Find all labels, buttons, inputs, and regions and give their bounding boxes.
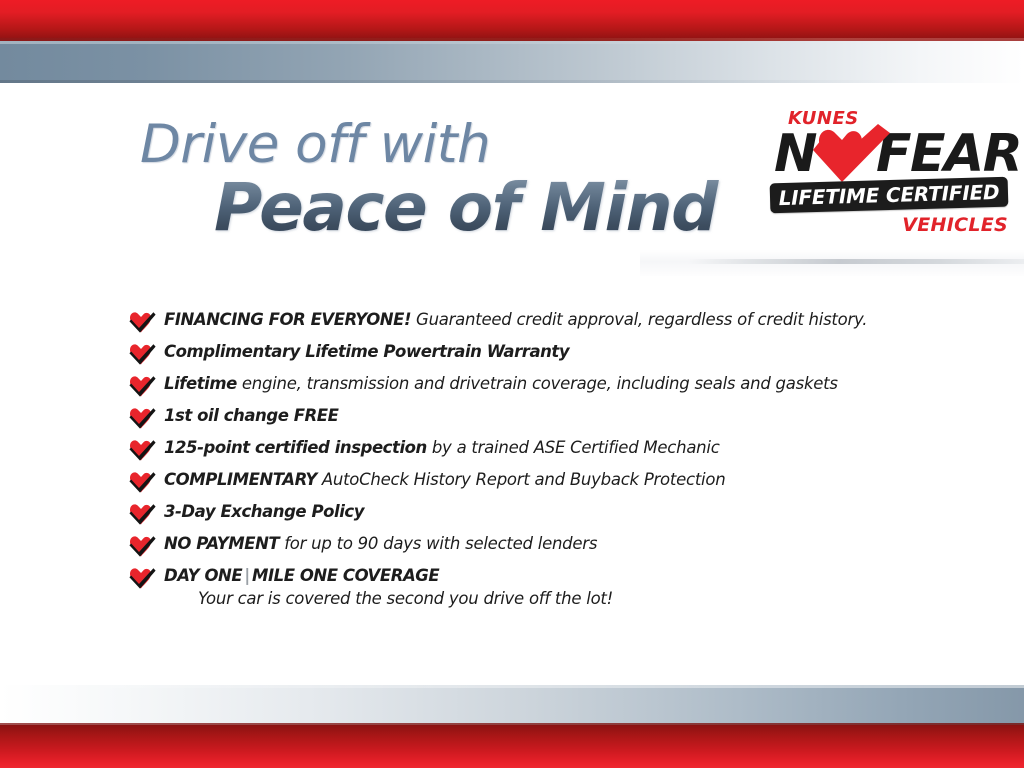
list-item-text: NO PAYMENT for up to 90 days with select… — [164, 529, 988, 555]
list-item-text: 1st oil change FREE — [164, 401, 988, 427]
list-item: 1st oil change FREE — [128, 401, 988, 433]
logo-no-fear-wordmark: N FEAR — [774, 128, 1010, 184]
logo-vehicles-text: VEHICLES — [902, 214, 1008, 236]
heart-check-icon — [128, 535, 156, 557]
list-item: DAY ONE|MILE ONE COVERAGE Your car is co… — [128, 561, 988, 613]
list-item-bold: NO PAYMENT — [164, 534, 279, 553]
heart-check-icon — [128, 567, 156, 589]
list-item-rest: engine, transmission and drivetrain cove… — [237, 374, 838, 393]
top-red-band — [0, 0, 1024, 41]
kunes-no-fear-logo: KUNES N FEAR LIFETIME CERTIFIED VEHICLES — [770, 108, 1014, 244]
list-item-text: Complimentary Lifetime Powertrain Warran… — [164, 337, 988, 363]
heart-check-icon — [128, 311, 156, 333]
list-item-bold: COMPLIMENTARY — [164, 470, 317, 489]
bottom-red-band — [0, 725, 1024, 768]
top-gray-band-highlight — [0, 41, 1024, 44]
heart-check-icon — [128, 471, 156, 493]
list-item: NO PAYMENT for up to 90 days with select… — [128, 529, 988, 561]
top-gray-band-shadow — [0, 80, 1024, 83]
bottom-gray-band — [0, 685, 1024, 725]
list-item-text: 125-point certified inspection by a trai… — [164, 433, 988, 459]
list-item-bold: 125-point certified inspection — [164, 438, 427, 457]
list-item-bold: 1st oil change FREE — [164, 406, 338, 425]
list-item-rest: AutoCheck History Report and Buyback Pro… — [317, 470, 726, 489]
heart-check-icon — [128, 407, 156, 429]
list-item-bold: Complimentary Lifetime Powertrain Warran… — [164, 342, 569, 361]
list-item: 125-point certified inspection by a trai… — [128, 433, 988, 465]
list-item-text: DAY ONE|MILE ONE COVERAGE — [164, 561, 988, 587]
list-item-rest: Guaranteed credit approval, regardless o… — [411, 310, 867, 329]
list-item-text: 3-Day Exchange Policy — [164, 497, 988, 523]
list-item-text: COMPLIMENTARY AutoCheck History Report a… — [164, 465, 988, 491]
logo-lifetime-certified-bar: LIFETIME CERTIFIED — [770, 177, 1009, 214]
list-item-separator: | — [242, 566, 252, 585]
headline-line-2: Peace of Mind — [214, 174, 740, 241]
list-item-bold-a: DAY ONE — [164, 566, 242, 585]
list-item-rest: by a trained ASE Certified Mechanic — [427, 438, 720, 457]
heart-check-icon — [128, 343, 156, 365]
list-item-bold: Lifetime — [164, 374, 237, 393]
list-item: 3-Day Exchange Policy — [128, 497, 988, 529]
benefits-list: FINANCING FOR EVERYONE! Guaranteed credi… — [128, 305, 988, 613]
header-divider — [688, 259, 1024, 264]
list-item: Lifetime engine, transmission and drivet… — [128, 369, 988, 401]
heart-check-icon — [128, 503, 156, 525]
heart-check-icon — [128, 439, 156, 461]
list-item-text: Lifetime engine, transmission and drivet… — [164, 369, 988, 395]
list-item-subtext: Your car is covered the second you drive… — [164, 587, 988, 610]
heart-check-icon — [812, 124, 892, 186]
bottom-gray-band-highlight — [0, 685, 1024, 688]
list-item-text: FINANCING FOR EVERYONE! Guaranteed credi… — [164, 305, 988, 331]
list-item-bold: 3-Day Exchange Policy — [164, 502, 364, 521]
headline-line-1: Drive off with — [140, 118, 740, 172]
logo-letter-n: N — [774, 128, 816, 180]
logo-lifetime-certified-text: LIFETIME CERTIFIED — [770, 177, 1009, 214]
heart-check-icon — [128, 375, 156, 397]
logo-word-fear: FEAR — [876, 128, 1021, 180]
promo-slide: Drive off with Peace of Mind KUNES N FEA… — [0, 0, 1024, 768]
list-item: FINANCING FOR EVERYONE! Guaranteed credi… — [128, 305, 988, 337]
list-item-bold: FINANCING FOR EVERYONE! — [164, 310, 411, 329]
list-item-rest: for up to 90 days with selected lenders — [279, 534, 597, 553]
list-item: COMPLIMENTARY AutoCheck History Report a… — [128, 465, 988, 497]
list-item: Complimentary Lifetime Powertrain Warran… — [128, 337, 988, 369]
list-item-bold-b: MILE ONE COVERAGE — [252, 566, 439, 585]
top-gray-band — [0, 41, 1024, 83]
headline-block: Drive off with Peace of Mind — [0, 118, 740, 241]
